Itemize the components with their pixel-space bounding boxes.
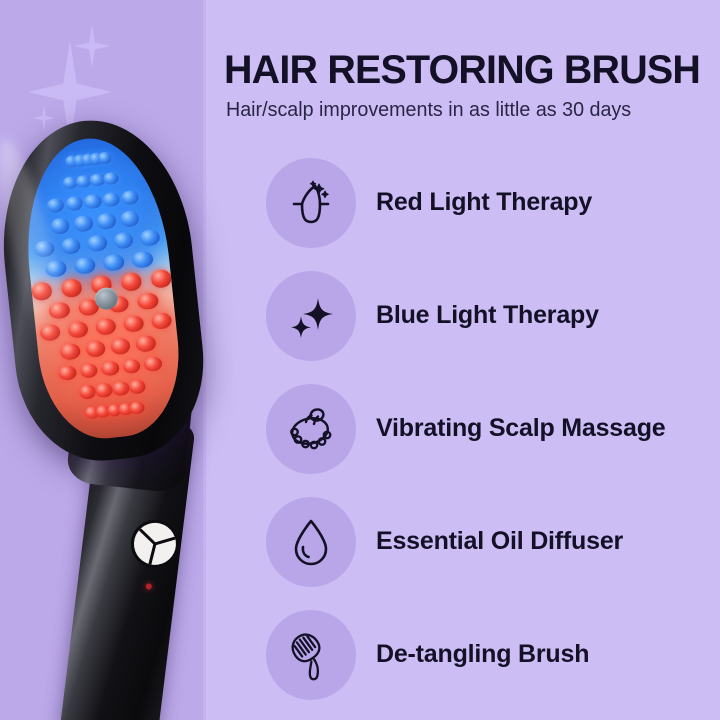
feature-label: De-tangling Brush — [376, 640, 589, 669]
hair-restoring-brush-device — [0, 120, 250, 720]
sparkle-stars-icon — [266, 271, 356, 361]
water-droplet-icon — [266, 497, 356, 587]
product-feature-poster: Red Light Therapy Blue Light Therapy — [0, 0, 720, 720]
feature-row-vibrating-scalp-massage[interactable]: Vibrating Scalp Massage — [266, 384, 706, 497]
feature-row-red-light-therapy[interactable]: Red Light Therapy — [266, 158, 706, 271]
feature-row-blue-light-therapy[interactable]: Blue Light Therapy — [266, 271, 706, 384]
power-button-face — [130, 518, 181, 569]
page-title: HAIR RESTORING BRUSH — [224, 48, 700, 93]
feature-label: Essential Oil Diffuser — [376, 527, 623, 556]
feature-label: Blue Light Therapy — [376, 301, 599, 330]
device-brush-head — [0, 111, 213, 469]
page-subtitle: Hair/scalp improvements in as little as … — [226, 99, 631, 122]
feature-label: Vibrating Scalp Massage — [376, 414, 666, 443]
hair-brush-icon — [266, 610, 356, 700]
hair-follicle-icon — [266, 158, 356, 248]
feature-label: Red Light Therapy — [376, 188, 592, 217]
feature-list: Red Light Therapy Blue Light Therapy — [266, 158, 706, 720]
led-indicator-icon — [145, 583, 152, 590]
power-button[interactable] — [126, 515, 184, 573]
feature-row-de-tangling-brush[interactable]: De-tangling Brush — [266, 610, 706, 720]
scalp-massager-icon — [266, 384, 356, 474]
feature-row-essential-oil-diffuser[interactable]: Essential Oil Diffuser — [266, 497, 706, 610]
